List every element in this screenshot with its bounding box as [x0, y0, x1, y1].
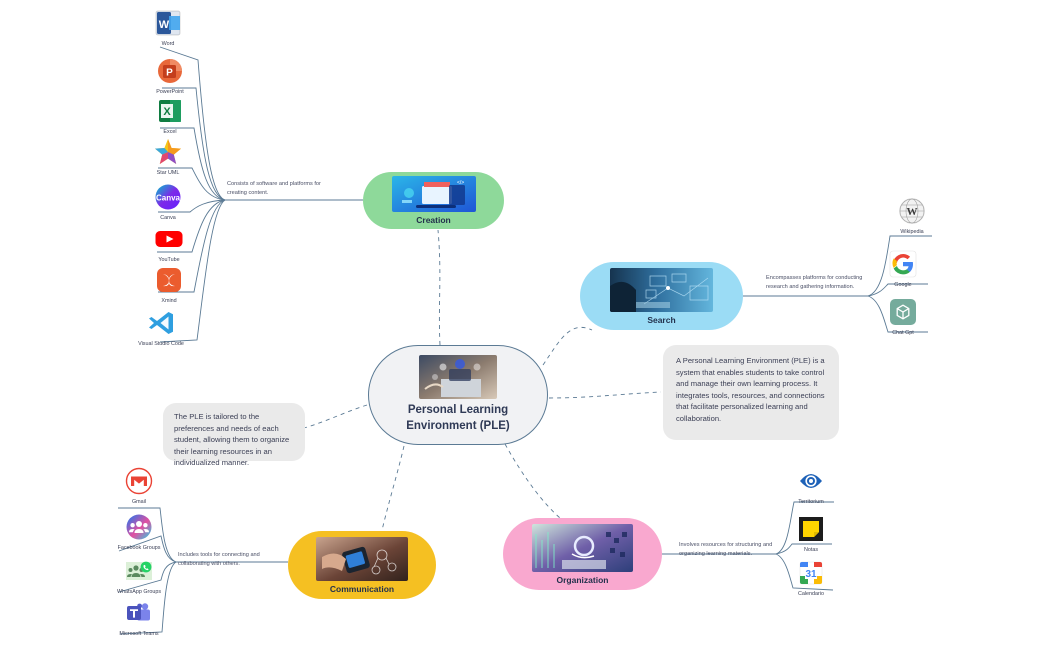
- central-node-title: Personal Learning Environment (PLE): [406, 403, 510, 434]
- leaf-label: Star UML: [157, 170, 180, 176]
- leaf-facebook-groups[interactable]: Facebook Groups: [104, 512, 174, 551]
- caption-search: Encompasses platforms for conducting res…: [766, 274, 866, 291]
- powerpoint-icon: P: [155, 56, 185, 86]
- territorium-icon: [796, 466, 826, 496]
- canva-icon: Canva: [153, 182, 183, 212]
- leaf-staruml[interactable]: Star UML: [133, 137, 203, 176]
- leaf-excel[interactable]: X Excel: [135, 96, 205, 135]
- leaf-word[interactable]: W Word: [133, 8, 203, 47]
- svg-text:Canva: Canva: [156, 194, 181, 203]
- leaf-label: Microsoft Teams: [119, 631, 158, 637]
- leaf-youtube[interactable]: YouTube: [134, 224, 204, 263]
- svg-text:P: P: [166, 68, 173, 79]
- leaf-canva[interactable]: Canva Canva: [133, 182, 203, 221]
- word-icon: W: [153, 8, 183, 38]
- svg-text:W: W: [907, 206, 918, 218]
- leaf-label: Facebook Groups: [118, 545, 161, 551]
- google-icon: [888, 249, 918, 279]
- leaf-vscode[interactable]: Visual Studio Code: [126, 308, 196, 347]
- facebook-groups-icon: [124, 512, 154, 542]
- leaf-label: Gmail: [132, 499, 146, 505]
- google-calendar-icon: 31: [796, 558, 826, 588]
- leaf-label: Calendario: [798, 591, 824, 597]
- notes-icon: [796, 514, 826, 544]
- creation-node-image: </>: [392, 176, 476, 212]
- caption-organization: Involves resources for structuring and o…: [679, 541, 777, 558]
- staruml-icon: [153, 137, 183, 167]
- leaf-label: Territorium: [798, 499, 823, 505]
- whatsapp-groups-icon: [124, 556, 154, 586]
- leaf-powerpoint[interactable]: P PowerPoint: [135, 56, 205, 95]
- svg-text:31: 31: [805, 569, 817, 580]
- caption-creation: Consists of software and platforms for c…: [227, 180, 337, 197]
- leaf-label: Wikipedia: [900, 229, 923, 235]
- search-node-image: [610, 268, 713, 312]
- svg-text:</>: </>: [457, 180, 464, 186]
- leaf-label: Notas: [804, 547, 818, 553]
- leaf-label: Canva: [160, 215, 176, 221]
- svg-text:W: W: [159, 19, 170, 31]
- svg-text:X: X: [163, 106, 171, 118]
- central-title-line1: Personal Learning: [406, 403, 510, 419]
- creation-node-label: Creation: [416, 215, 450, 225]
- leaf-whatsapp-groups[interactable]: WhatsApp Groups: [104, 556, 174, 595]
- leaf-xmind[interactable]: Xmind: [134, 265, 204, 304]
- leaf-label: Excel: [163, 129, 176, 135]
- leaf-label: PowerPoint: [156, 89, 184, 95]
- leaf-microsoft-teams[interactable]: Microsoft Teams: [104, 598, 174, 637]
- organization-node-image: [532, 524, 633, 572]
- central-node-image: [419, 355, 497, 399]
- microsoft-teams-icon: [124, 598, 154, 628]
- mindmap-canvas: Personal Learning Environment (PLE) </> …: [0, 0, 1050, 650]
- youtube-icon: [154, 224, 184, 254]
- leaf-gmail[interactable]: Gmail: [104, 466, 174, 505]
- note-definition: A Personal Learning Environment (PLE) is…: [663, 345, 839, 440]
- branch-node-communication[interactable]: Communication: [288, 531, 436, 599]
- branch-node-organization[interactable]: Organization: [503, 518, 662, 590]
- vscode-icon: [146, 308, 176, 338]
- excel-icon: X: [155, 96, 185, 126]
- wikipedia-icon: W: [897, 196, 927, 226]
- leaf-label: Xmind: [161, 298, 176, 304]
- note-personalization: The PLE is tailored to the preferences a…: [163, 403, 305, 461]
- chatgpt-icon: [888, 297, 918, 327]
- caption-communication: Includes tools for connecting and collab…: [178, 551, 270, 568]
- leaf-label: WhatsApp Groups: [117, 589, 161, 595]
- organization-node-label: Organization: [557, 575, 609, 585]
- xmind-icon: [154, 265, 184, 295]
- central-node[interactable]: Personal Learning Environment (PLE): [368, 345, 548, 445]
- branch-node-search[interactable]: Search: [580, 262, 743, 330]
- branch-node-creation[interactable]: </> Creation: [363, 172, 504, 229]
- central-title-line2: Environment (PLE): [406, 419, 510, 435]
- leaf-label: Chat Gpt: [892, 330, 914, 336]
- leaf-territorium[interactable]: Territorium: [776, 466, 846, 505]
- leaf-wikipedia[interactable]: W Wikipedia: [877, 196, 947, 235]
- communication-node-image: [316, 537, 408, 581]
- leaf-chatgpt[interactable]: Chat Gpt: [868, 297, 938, 336]
- communication-node-label: Communication: [330, 584, 394, 594]
- leaf-calendario[interactable]: 31 Calendario: [776, 558, 846, 597]
- leaf-label: Google: [894, 282, 911, 288]
- leaf-notas[interactable]: Notas: [776, 514, 846, 553]
- leaf-label: YouTube: [158, 257, 179, 263]
- search-node-label: Search: [647, 315, 675, 325]
- leaf-label: Visual Studio Code: [138, 341, 184, 347]
- leaf-label: Word: [162, 41, 175, 47]
- leaf-google[interactable]: Google: [868, 249, 938, 288]
- gmail-icon: [124, 466, 154, 496]
